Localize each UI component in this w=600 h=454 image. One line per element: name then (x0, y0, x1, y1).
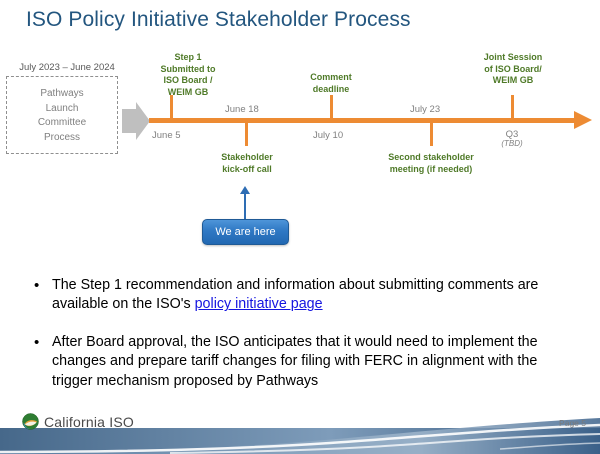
event-label-joint-session: Joint Session of ISO Board/ WEIM GB (471, 52, 555, 87)
we-are-here-stem (244, 192, 246, 220)
date-label-june-5: June 5 (152, 130, 181, 141)
event-label-second-stakeholder-meeting: Second stakeholder meeting (if needed) (376, 152, 486, 175)
phase-line-3: Committee (7, 116, 117, 131)
bullet-text-1: The Step 1 recommendation and informatio… (52, 276, 575, 315)
list-item: • The Step 1 recommendation and informat… (30, 276, 575, 315)
brand-logo: California ISO (22, 413, 134, 430)
timeline-tick-june-18 (245, 122, 248, 146)
phase-line-1: Pathways (7, 87, 117, 102)
bullet-text-2: After Board approval, the ISO anticipate… (52, 333, 575, 391)
bullet-marker: • (30, 333, 52, 352)
california-iso-logo-icon (22, 413, 39, 430)
event-label-comment-deadline: Comment deadline (301, 72, 361, 95)
we-are-here-callout[interactable]: We are here (202, 219, 289, 245)
brand-name: California ISO (44, 414, 134, 430)
date-label-june-18: June 18 (225, 104, 259, 115)
page-title: ISO Policy Initiative Stakeholder Proces… (26, 8, 411, 32)
gray-chevron-arrow-icon (122, 101, 150, 141)
bullet-list: • The Step 1 recommendation and informat… (30, 276, 575, 409)
timeline-tick-july-23 (430, 122, 433, 146)
phase-box-label: Pathways Launch Committee Process (7, 87, 117, 145)
timeline-arrowhead-icon (574, 111, 592, 129)
page-number: Page 5 (559, 418, 586, 428)
event-label-step-1: Step 1 Submitted to ISO Board / WEIM GB (148, 52, 228, 98)
list-item: • After Board approval, the ISO anticipa… (30, 333, 575, 391)
timeline-tick-june-5 (170, 95, 173, 119)
bullet-marker: • (30, 276, 52, 295)
phase-line-4: Process (7, 131, 117, 146)
pathways-phase-box: Pathways Launch Committee Process (6, 76, 118, 154)
phase-line-2: Launch (7, 102, 117, 117)
slide-canvas: ISO Policy Initiative Stakeholder Proces… (0, 0, 600, 454)
timeline-tick-q3 (511, 95, 514, 119)
policy-initiative-page-link[interactable]: policy initiative page (195, 296, 323, 312)
date-sublabel-q3-tbd: (TBD) (495, 139, 529, 148)
event-label-stakeholder-kickoff: Stakeholder kick-off call (211, 152, 283, 175)
timeline-bar (149, 118, 579, 123)
phase-caption: July 2023 – June 2024 (5, 62, 129, 73)
date-label-july-10: July 10 (313, 130, 343, 141)
timeline-tick-july-10 (330, 95, 333, 119)
date-label-july-23: July 23 (410, 104, 440, 115)
we-are-here-label: We are here (203, 220, 288, 244)
